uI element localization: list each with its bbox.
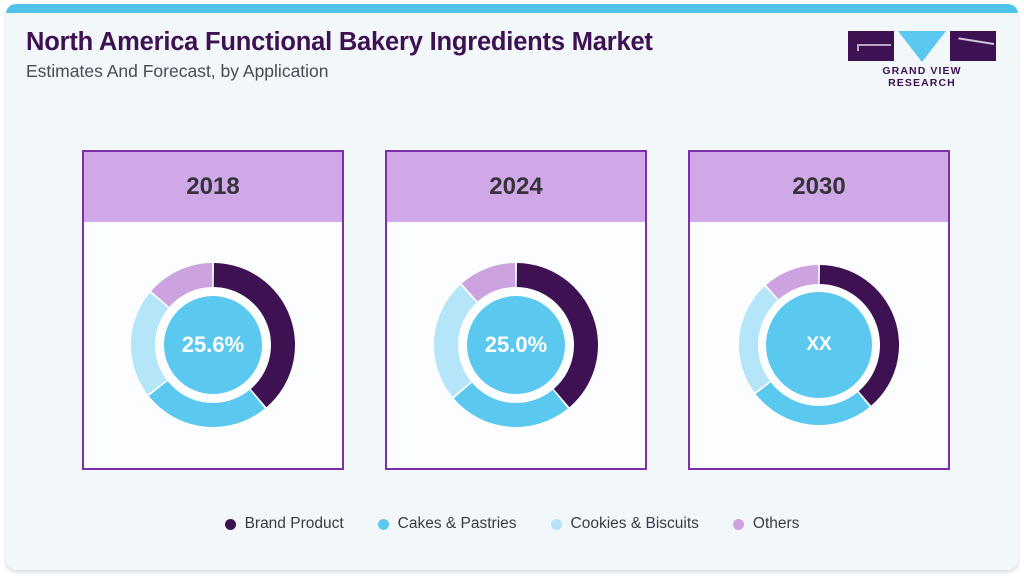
donut-center-value: 25.0% bbox=[467, 296, 565, 394]
logo-triangle-icon bbox=[898, 31, 946, 62]
grand-view-research-logo: GRAND VIEW RESEARCH bbox=[848, 31, 996, 83]
legend-swatch-icon bbox=[225, 519, 236, 530]
panel-2030: 2030 XX bbox=[688, 150, 950, 470]
panel-year-label: 2030 bbox=[792, 173, 845, 201]
top-accent-bar bbox=[6, 4, 1018, 13]
infographic-card: North America Functional Bakery Ingredie… bbox=[6, 4, 1018, 570]
panel-header-2030: 2030 bbox=[690, 152, 948, 222]
legend-item-others: Others bbox=[733, 515, 800, 533]
panel-header-2024: 2024 bbox=[387, 152, 645, 222]
logo-square-right-icon bbox=[950, 31, 996, 61]
legend-label: Cakes & Pastries bbox=[398, 515, 517, 533]
legend: Brand Product Cakes & Pastries Cookies &… bbox=[6, 504, 1018, 544]
panel-header-2018: 2018 bbox=[84, 152, 342, 222]
legend-swatch-icon bbox=[378, 519, 389, 530]
legend-item-cakes-pastries: Cakes & Pastries bbox=[378, 515, 517, 533]
panel-2024: 2024 25.0% bbox=[385, 150, 647, 470]
donut-wrap-2018: 25.6% bbox=[84, 222, 342, 468]
logo-marks bbox=[848, 31, 996, 61]
donut-chart-2018: 25.6% bbox=[130, 262, 296, 428]
legend-item-brand-product: Brand Product bbox=[225, 515, 344, 533]
donut-chart-2024: 25.0% bbox=[433, 262, 599, 428]
legend-label: Brand Product bbox=[245, 515, 344, 533]
donut-chart-2030: XX bbox=[736, 262, 902, 428]
page-title: North America Functional Bakery Ingredie… bbox=[26, 28, 653, 57]
page-subtitle: Estimates And Forecast, by Application bbox=[26, 61, 329, 82]
donut-center-value: XX bbox=[766, 292, 872, 398]
panel-2018: 2018 25.6% bbox=[82, 150, 344, 470]
legend-label: Cookies & Biscuits bbox=[571, 515, 699, 533]
legend-swatch-icon bbox=[733, 519, 744, 530]
legend-swatch-icon bbox=[551, 519, 562, 530]
donut-wrap-2024: 25.0% bbox=[387, 222, 645, 468]
header: North America Functional Bakery Ingredie… bbox=[6, 13, 1018, 99]
legend-label: Others bbox=[753, 515, 800, 533]
logo-text: GRAND VIEW RESEARCH bbox=[848, 65, 996, 89]
logo-square-left-icon bbox=[848, 31, 894, 61]
donut-center-value: 25.6% bbox=[164, 296, 262, 394]
donut-segment bbox=[131, 293, 168, 395]
panel-year-label: 2018 bbox=[186, 173, 239, 201]
legend-item-cookies-biscuits: Cookies & Biscuits bbox=[551, 515, 699, 533]
panel-year-label: 2024 bbox=[489, 173, 542, 201]
donut-panels: 2018 25.6% 2024 25.0% 2030 bbox=[6, 146, 1018, 476]
donut-wrap-2030: XX bbox=[690, 222, 948, 468]
